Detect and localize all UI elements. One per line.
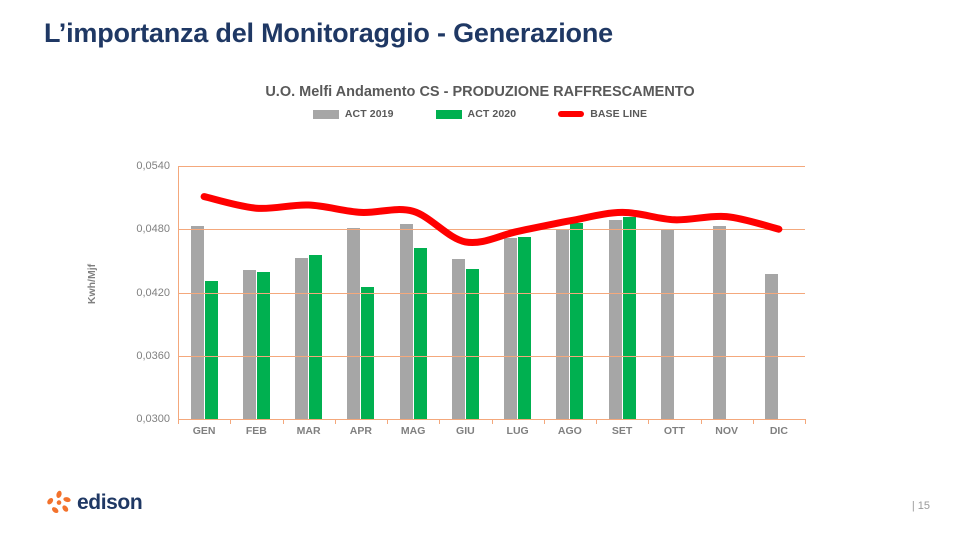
x-axis-label-gen: GEN	[193, 425, 216, 437]
x-axis-label-dic: DIC	[770, 425, 788, 437]
legend-label-base-line: BASE LINE	[590, 108, 647, 120]
x-axis-label-mag: MAG	[401, 425, 426, 437]
y-axis-label: Kwh/Mjf	[86, 264, 98, 304]
legend-swatch-base-line	[558, 111, 584, 117]
legend-swatch-act-2019	[313, 110, 339, 119]
x-axis-label-mar: MAR	[297, 425, 321, 437]
y-axis-tick-label: 0,0300	[136, 413, 170, 425]
legend-swatch-act-2020	[436, 110, 462, 119]
y-axis-tick-label: 0,0360	[136, 350, 170, 362]
x-axis-label-feb: FEB	[246, 425, 267, 437]
logo-wordmark: edison	[77, 491, 142, 515]
y-axis-tick-label: 0,0540	[136, 160, 170, 172]
x-axis-label-nov: NOV	[715, 425, 738, 437]
edison-logo: edison	[46, 490, 142, 516]
base-line-path[interactable]	[204, 197, 779, 243]
edison-spark-logo-icon	[46, 490, 72, 516]
legend-label-act-2020: ACT 2020	[468, 108, 517, 120]
chart-container: U.O. Melfi Andamento CS - PRODUZIONE RAF…	[0, 84, 960, 454]
x-axis-labels: GENFEBMARAPRMAGGIULUGAGOSETOTTNOVDIC	[178, 425, 805, 445]
slide-footer: edison | 15	[0, 476, 960, 540]
legend-item-act-2020[interactable]: ACT 2020	[436, 108, 517, 120]
x-axis-label-lug: LUG	[507, 425, 529, 437]
page-title: L’importanza del Monitoraggio - Generazi…	[44, 18, 613, 49]
chart-title: U.O. Melfi Andamento CS - PRODUZIONE RAF…	[0, 84, 960, 100]
legend-label-act-2019: ACT 2019	[345, 108, 394, 120]
y-axis-tick-label: 0,0480	[136, 223, 170, 235]
y-axis-tick-label: 0,0420	[136, 287, 170, 299]
x-axis-label-apr: APR	[350, 425, 372, 437]
legend-item-base-line[interactable]: BASE LINE	[558, 108, 647, 120]
x-axis-tick	[805, 419, 806, 424]
x-axis-label-ott: OTT	[664, 425, 685, 437]
chart-legend: ACT 2019 ACT 2020 BASE LINE	[0, 108, 960, 120]
x-axis-line	[178, 419, 805, 420]
x-axis-label-ago: AGO	[558, 425, 582, 437]
y-axis-ticks: 0,03000,03600,04200,04800,0540	[108, 166, 170, 419]
base-line-series	[178, 166, 805, 419]
legend-item-act-2019[interactable]: ACT 2019	[313, 108, 394, 120]
page-number: | 15	[912, 500, 930, 512]
x-axis-label-giu: GIU	[456, 425, 475, 437]
x-axis-label-set: SET	[612, 425, 632, 437]
